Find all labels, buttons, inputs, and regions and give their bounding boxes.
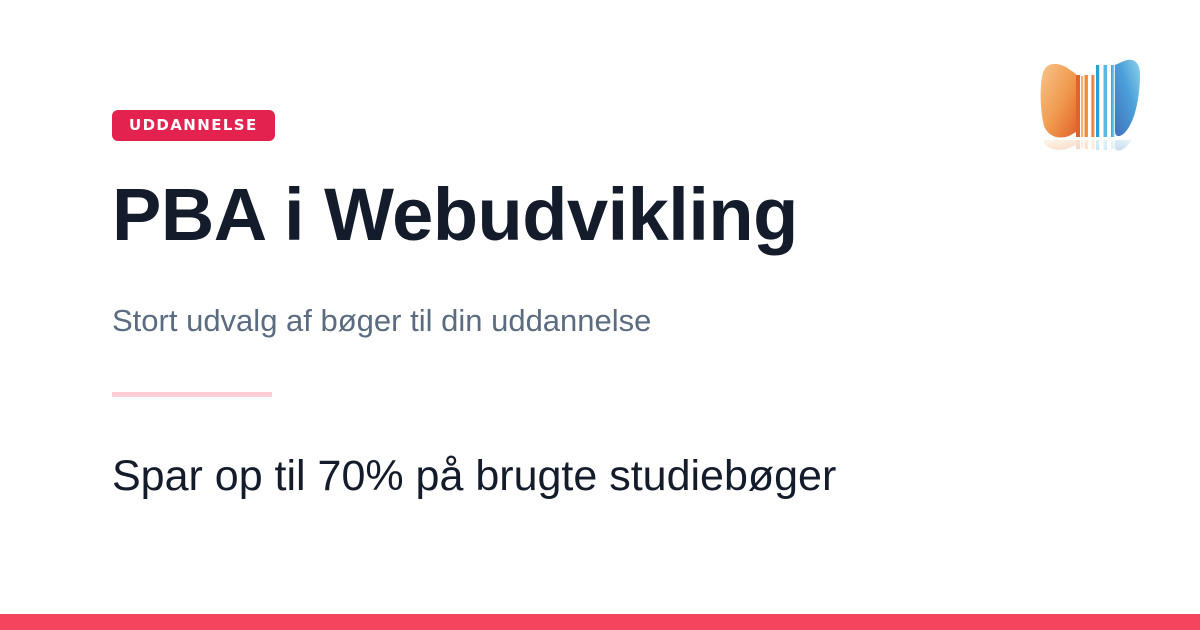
logo-right-stripes bbox=[1096, 65, 1114, 137]
divider-rule bbox=[112, 392, 272, 397]
promo-banner: UDDANNELSE PBA i Webudvikling Stort udva… bbox=[0, 0, 1200, 630]
page-title: PBA i Webudvikling bbox=[112, 178, 798, 252]
category-badge: UDDANNELSE bbox=[112, 110, 275, 141]
logo-reflection bbox=[1040, 140, 1142, 156]
logo-left-stripes bbox=[1076, 75, 1095, 137]
logo-left-page bbox=[1041, 64, 1076, 138]
page-subtitle: Stort udvalg af bøger til din uddannelse bbox=[112, 302, 651, 339]
bottom-accent-bar bbox=[0, 614, 1200, 630]
logo-right-page bbox=[1115, 60, 1140, 136]
open-book-barcode-logo bbox=[1032, 48, 1142, 156]
promo-tagline: Spar op til 70% på brugte studiebøger bbox=[112, 452, 836, 501]
category-badge-label: UDDANNELSE bbox=[129, 118, 258, 133]
